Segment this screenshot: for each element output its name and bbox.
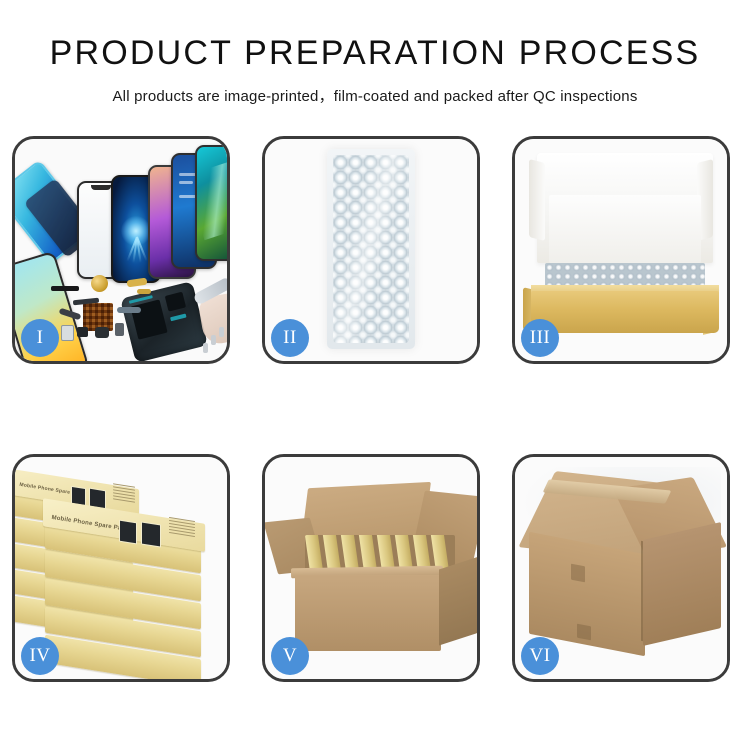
plastic-sheen [333,155,409,343]
bubble-wrap-surface [333,155,409,343]
carton-handle-tab [571,564,585,583]
box-base [531,291,719,333]
step-badge-6: VI [521,637,559,675]
step-badge-3: III [521,319,559,357]
part-component [77,327,88,337]
step-panel-3: III [512,136,730,364]
part-gold-flex [127,278,148,288]
carton-handle-tab [577,624,591,641]
box-label-window [119,520,137,545]
carton-edge-seam [641,541,643,641]
step-panel-6: VI [512,454,730,682]
part-camera-module [95,327,109,338]
step-panel-2: II [262,136,480,364]
carton-front-face [295,575,441,651]
step-badge-2: II [271,319,309,357]
part-screw [219,327,224,337]
product-preparation-infographic: PRODUCT PREPARATION PROCESS All products… [0,0,750,750]
header: PRODUCT PREPARATION PROCESS All products… [0,0,750,106]
part-sim-tray [61,325,74,341]
phone-screen-teal [195,145,227,261]
step-panel-1: I [12,136,230,364]
chassis-board [165,292,186,312]
part-flex-cable [117,307,141,313]
chassis-battery [130,299,167,339]
box-lid-flap-left [529,159,545,241]
part-speaker-grille [51,286,79,291]
step-badge-1: I [21,319,59,357]
part-gold-flex [137,289,151,294]
part-screw [203,343,208,353]
step-badge-5: V [271,637,309,675]
notch-icon [91,185,111,190]
part-coil [91,275,108,292]
page-title: PRODUCT PREPARATION PROCESS [0,36,750,70]
foam-sheet [549,195,701,263]
box-label-window [141,521,161,547]
step-panel-4: Mobile Phone Spare Parts Mobile Phone Sp… [12,454,230,682]
page-subtitle: All products are image-printed，film-coat… [0,85,750,106]
carton-side-face [643,522,721,646]
step-panel-5: V [262,454,480,682]
step-badge-4: IV [21,637,59,675]
steps-grid: I II [12,136,738,682]
part-component [115,323,124,336]
part-screw [211,335,216,345]
bubble-wrap-bag [327,149,415,349]
chassis-connector [170,314,186,322]
box-label-lines [113,483,135,504]
carton-right-face [439,557,477,646]
